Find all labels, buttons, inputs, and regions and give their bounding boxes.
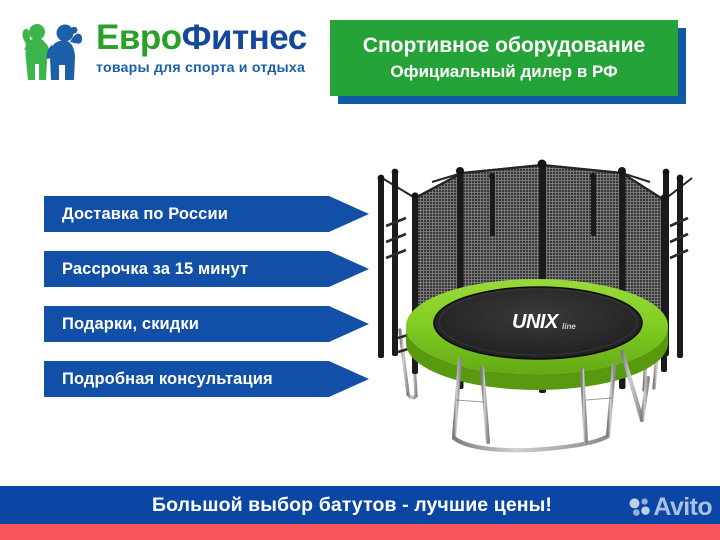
two-athlete-figures-icon [18, 20, 92, 82]
brand-logo: ЕвроФитнес товары для спорта и отдыха [18, 18, 328, 90]
trampoline-with-safety-net-photo: UNIX line [372, 138, 702, 470]
brand-name: ЕвроФитнес [96, 18, 328, 58]
header-banner: Спортивное оборудование Официальный диле… [330, 20, 678, 96]
header-banner-line-2: Официальный дилер в РФ [390, 61, 617, 83]
feature-list: Доставка по России Рассрочка за 15 минут… [44, 196, 369, 416]
feature-label: Подробная консультация [44, 370, 273, 389]
feature-arrow-installment: Рассрочка за 15 минут [44, 251, 369, 287]
bottom-banner: Большой выбор батутов - лучшие цены! [0, 486, 720, 524]
svg-text:line: line [562, 322, 576, 331]
brand-name-part-1: Евро [96, 18, 182, 57]
header-banner-line-1: Спортивное оборудование [363, 33, 645, 59]
feature-arrow-gifts: Подарки, скидки [44, 306, 369, 342]
feature-arrow-delivery: Доставка по России [44, 196, 369, 232]
svg-text:UNIX: UNIX [512, 311, 560, 333]
feature-label: Рассрочка за 15 минут [44, 260, 248, 279]
avito-wordmark: Avito [653, 495, 712, 520]
brand-tagline: товары для спорта и отдыха [96, 59, 328, 77]
bottom-banner-text: Большой выбор батутов - лучшие цены! [152, 494, 552, 517]
feature-arrow-consultation: Подробная консультация [44, 361, 369, 397]
avito-dots-icon [629, 496, 651, 518]
avito-watermark: Avito [629, 492, 712, 522]
brand-name-part-2: Фитнес [182, 18, 307, 57]
feature-label: Подарки, скидки [44, 315, 199, 334]
brand-wordmark: ЕвроФитнес товары для спорта и отдыха [96, 18, 328, 77]
feature-label: Доставка по России [44, 205, 228, 224]
bottom-accent-bar [0, 524, 720, 540]
